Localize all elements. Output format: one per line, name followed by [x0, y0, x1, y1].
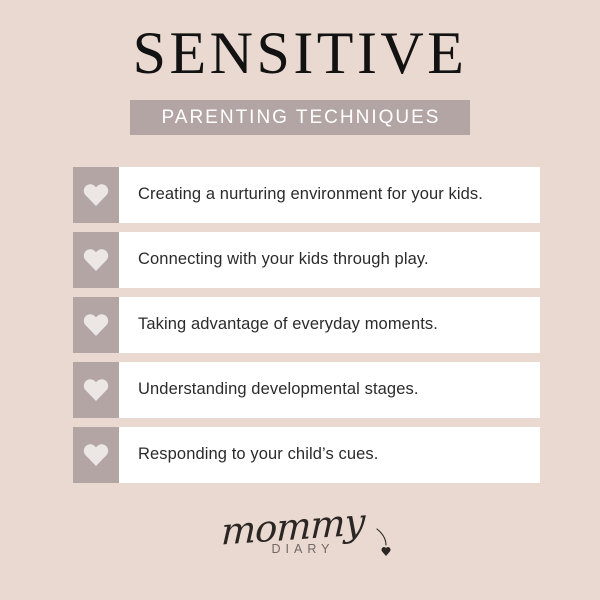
list-item-label: Connecting with your kids through play.	[119, 232, 540, 288]
list-item[interactable]: Responding to your child’s cues.	[73, 427, 540, 483]
list-item[interactable]: Creating a nurturing environment for you…	[73, 167, 540, 223]
brand-logo: mommy DIARY	[0, 508, 600, 558]
page-title: SENSITIVE	[0, 22, 600, 84]
list-item[interactable]: Understanding developmental stages.	[73, 362, 540, 418]
poster-canvas: SENSITIVE PARENTING TECHNIQUES Creating …	[0, 0, 600, 600]
title-block: SENSITIVE	[0, 22, 600, 84]
list-item-label: Creating a nurturing environment for you…	[119, 167, 540, 223]
list-item-label: Understanding developmental stages.	[119, 362, 540, 418]
techniques-list: Creating a nurturing environment for you…	[73, 167, 540, 492]
heart-icon	[73, 427, 119, 483]
list-item-label: Responding to your child’s cues.	[119, 427, 540, 483]
heart-icon	[73, 167, 119, 223]
subtitle-text: PARENTING TECHNIQUES	[160, 108, 441, 127]
brand-logo-inner: mommy DIARY	[221, 508, 378, 556]
heart-icon	[73, 297, 119, 353]
heart-icon	[73, 362, 119, 418]
heart-icon	[73, 232, 119, 288]
list-item[interactable]: Taking advantage of everyday moments.	[73, 297, 540, 353]
list-item-label: Taking advantage of everyday moments.	[119, 297, 540, 353]
list-item[interactable]: Connecting with your kids through play.	[73, 232, 540, 288]
subtitle-band: PARENTING TECHNIQUES	[130, 100, 470, 135]
heart-charm-icon	[373, 528, 395, 558]
